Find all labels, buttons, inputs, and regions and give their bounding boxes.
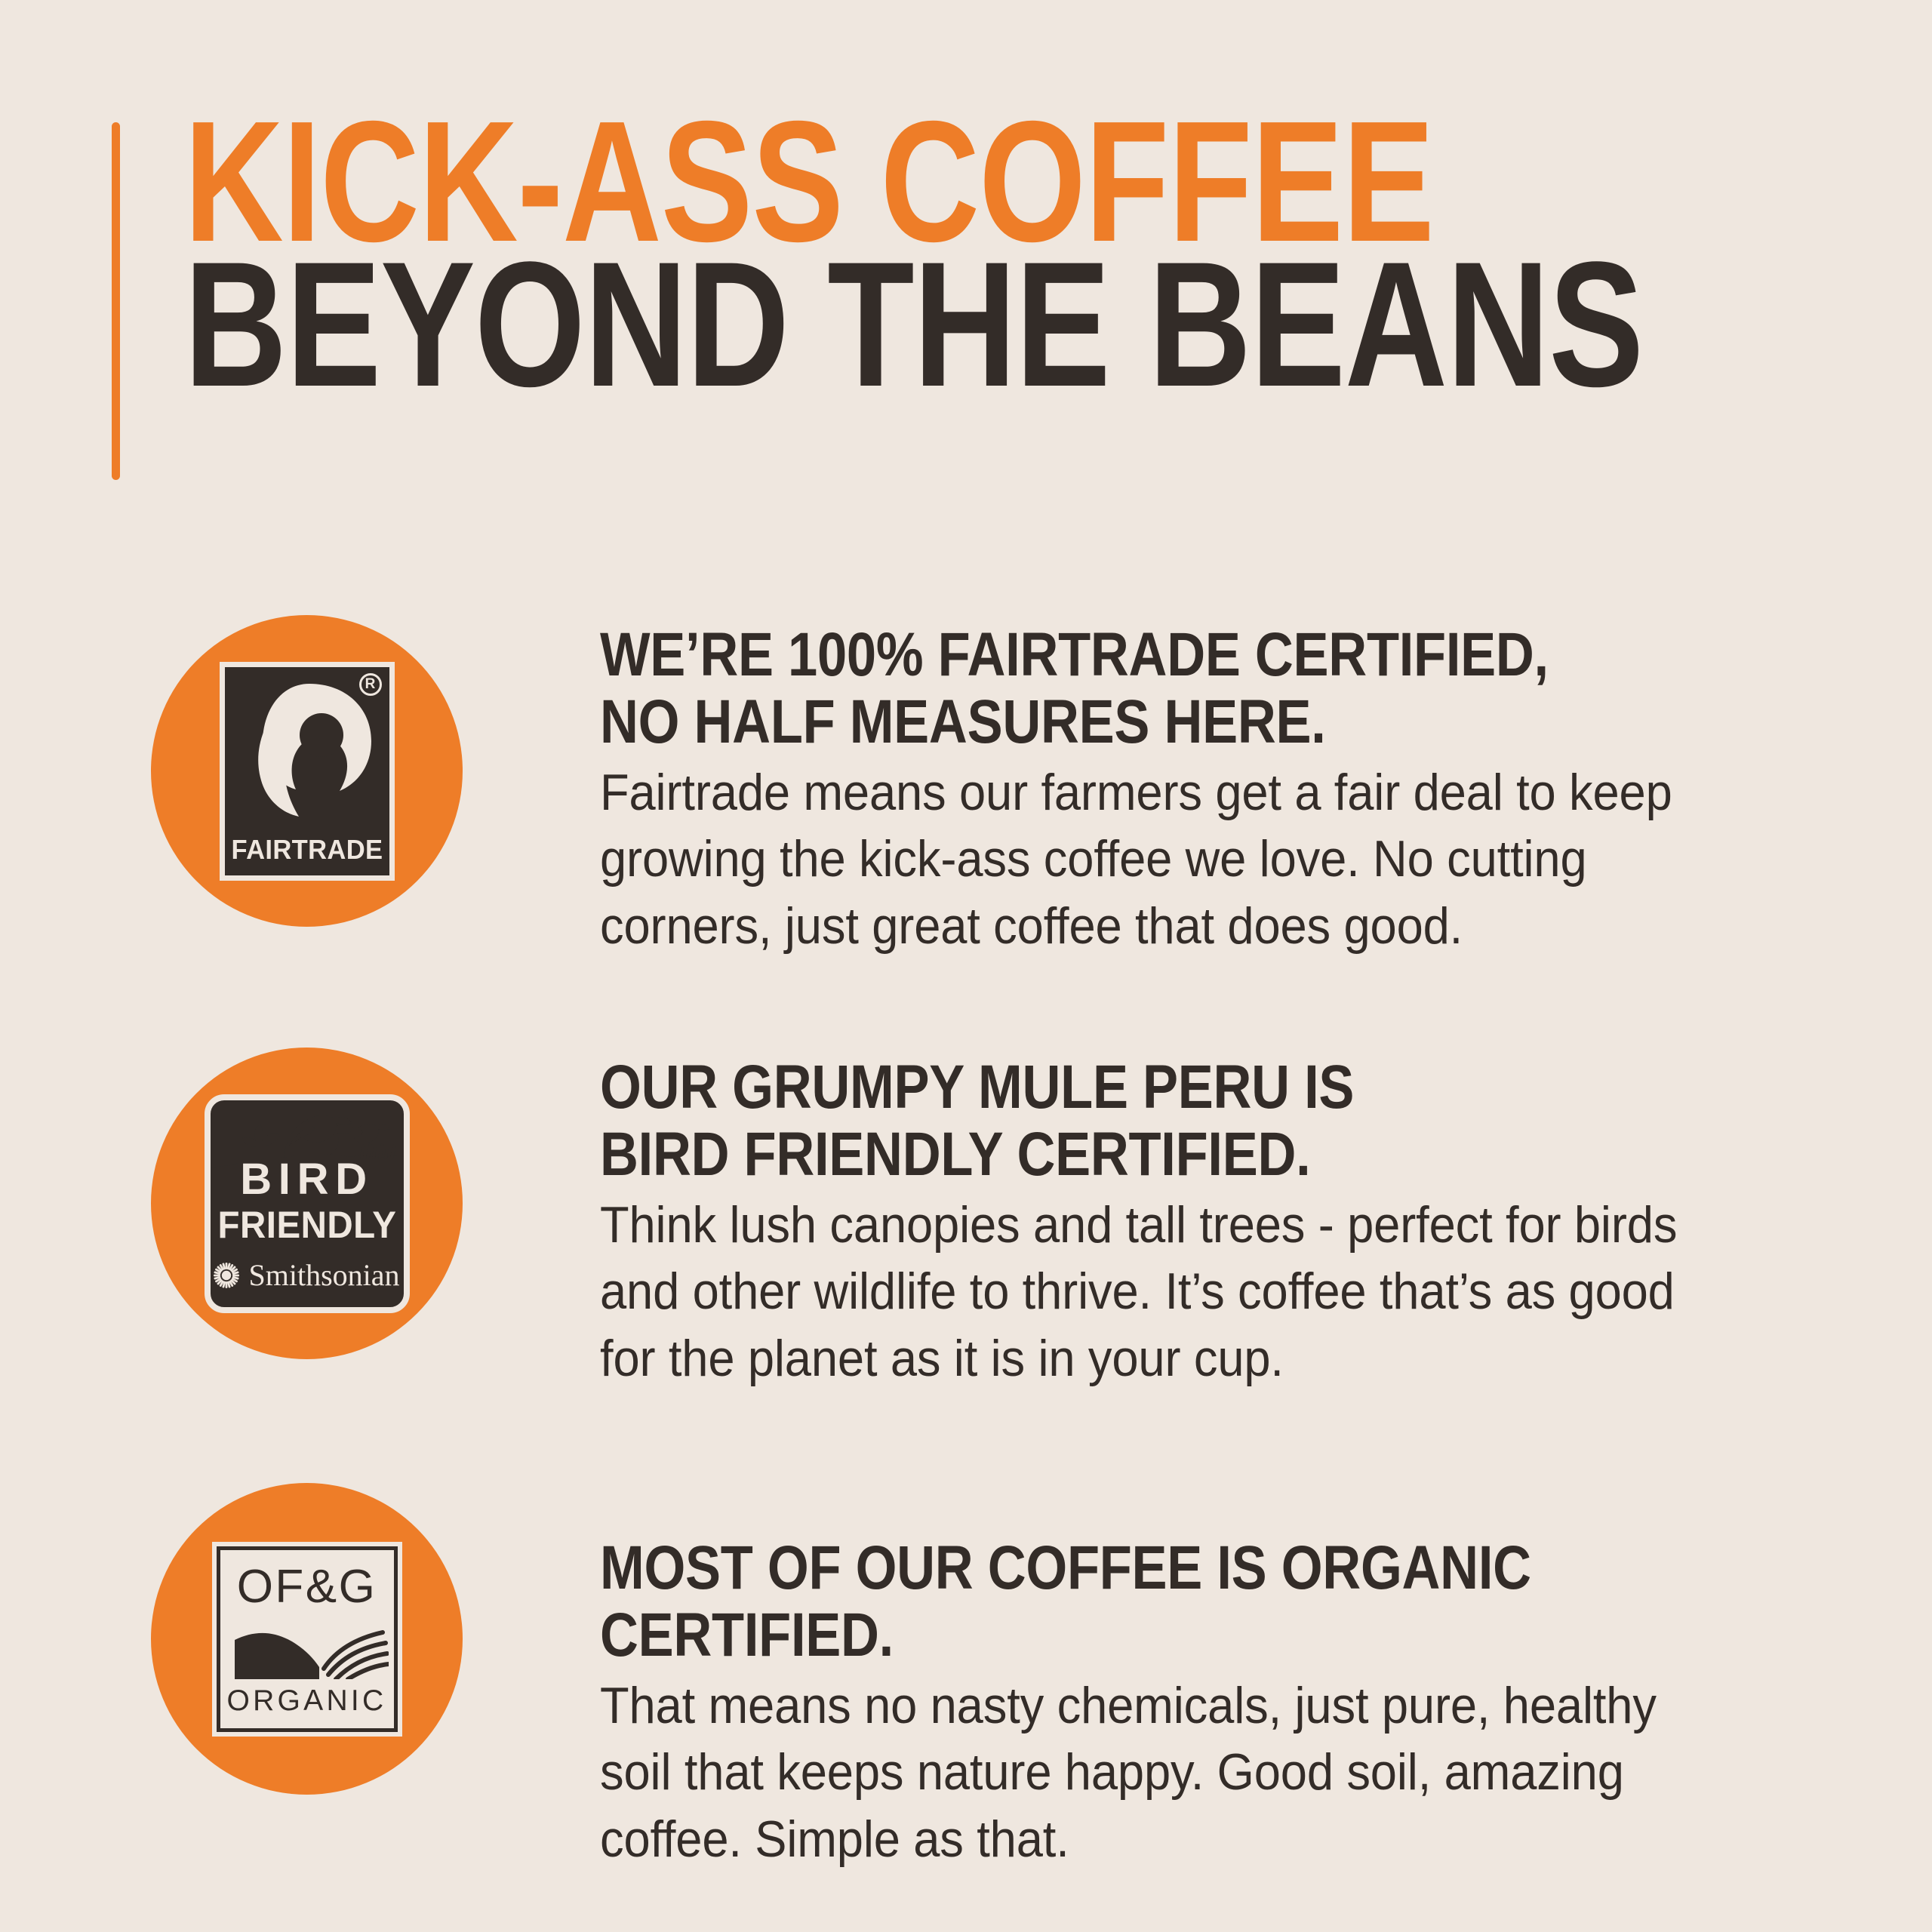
field-furrows-icon [235, 1625, 389, 1679]
fairtrade-heading: WE’RE 100% FAIRTRADE CERTIFIED, NO HALF … [600, 621, 1651, 756]
smithsonian-sunburst-icon [214, 1263, 239, 1288]
bird-friendly-text-block: OUR GRUMPY MULE PERU IS BIRD FRIENDLY CE… [600, 1054, 1823, 1392]
bird-friendly-logo-icon: BIRD FRIENDLY [205, 1094, 410, 1313]
organic-heading: MOST OF OUR COFFEE IS ORGANIC CERTIFIED. [600, 1534, 1651, 1669]
certification-row-organic: OF&G ORGANIC MOST OF OUR COFFEE IS ORGAN… [0, 1483, 1932, 1800]
smithsonian-wordmark: Smithsonian [248, 1260, 399, 1291]
organic-badge-circle: OF&G ORGANIC [151, 1483, 463, 1795]
fairtrade-logo-icon: R FAIRTRADE [220, 662, 395, 881]
fairtrade-body: Fairtrade means our farmers get a fair d… [600, 759, 1737, 959]
bird-friendly-body: Think lush canopies and tall trees - per… [600, 1192, 1737, 1392]
certification-row-bird-friendly: BIRD FRIENDLY [0, 1048, 1932, 1364]
bird-friendly-line-2: FRIENDLY [215, 1206, 398, 1244]
organic-text-block: MOST OF OUR COFFEE IS ORGANIC CERTIFIED.… [600, 1534, 1823, 1872]
ofg-wordmark: OF&G [217, 1564, 398, 1611]
title-line-secondary: BEYOND THE BEANS [184, 254, 1512, 396]
bird-friendly-badge-circle: BIRD FRIENDLY [151, 1048, 463, 1359]
orange-accent-bar [112, 122, 120, 480]
smithsonian-lockup: Smithsonian [211, 1260, 404, 1291]
poster-header: KICK-ASS COFFEE BEYOND THE BEANS [0, 0, 1932, 574]
fairtrade-badge-circle: R FAIRTRADE [151, 615, 463, 927]
ofg-organic-logo-icon: OF&G ORGANIC [212, 1542, 402, 1737]
certification-row-fairtrade: R FAIRTRADE WE’RE 100% FAIRTRADE CERTIFI… [0, 615, 1932, 932]
fairtrade-text-block: WE’RE 100% FAIRTRADE CERTIFIED, NO HALF … [600, 621, 1823, 959]
page-title: KICK-ASS COFFEE BEYOND THE BEANS [184, 113, 1844, 396]
fairtrade-wordmark: FAIRTRADE [228, 834, 386, 866]
bird-friendly-line-1: BIRD [211, 1158, 404, 1201]
poster-canvas: KICK-ASS COFFEE BEYOND THE BEANS R FAIRT… [0, 0, 1932, 1932]
registered-trademark-icon: R [359, 673, 382, 696]
organic-body: That means no nasty chemicals, just pure… [600, 1672, 1737, 1872]
bird-friendly-heading: OUR GRUMPY MULE PERU IS BIRD FRIENDLY CE… [600, 1054, 1651, 1189]
ofg-organic-label: ORGANIC [217, 1686, 398, 1715]
